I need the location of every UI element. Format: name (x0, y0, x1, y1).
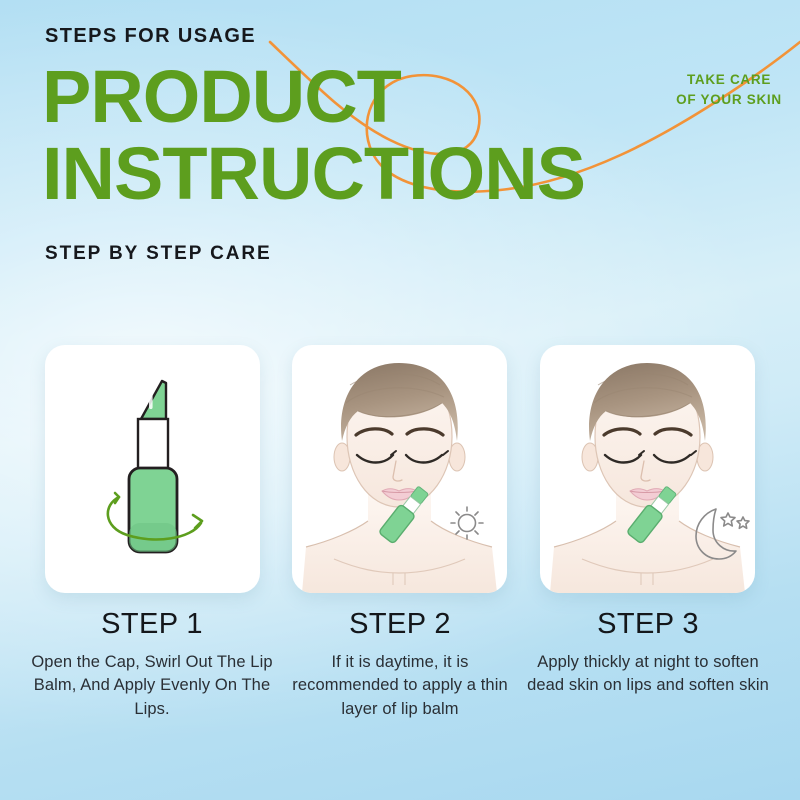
tagline-line2: OF YOUR SKIN (664, 90, 794, 110)
steps-caption-row: STEP 1 Open the Cap, Swirl Out The Lip B… (0, 608, 800, 788)
step-label: STEP 1 (28, 608, 276, 641)
woman-applying-balm-illustration (540, 345, 755, 593)
header: STEPS FOR USAGE PRODUCT INSTRUCTIONS STE… (0, 0, 800, 300)
lipstick-rotating-icon (45, 345, 260, 593)
sub-kicker-text: STEP BY STEP CARE (45, 243, 272, 265)
tagline: TAKE CARE OF YOUR SKIN (664, 70, 794, 109)
step-label: STEP 2 (276, 608, 524, 641)
step-description: Open the Cap, Swirl Out The Lip Balm, An… (28, 651, 276, 721)
step-description: If it is daytime, it is recommended to a… (276, 651, 524, 721)
step-card-1[interactable] (45, 345, 260, 593)
woman-applying-balm-illustration (292, 345, 507, 593)
step-description: Apply thickly at night to soften dead sk… (524, 651, 772, 698)
page-title-line2: INSTRUCTIONS (42, 140, 585, 208)
step-caption-1: STEP 1 Open the Cap, Swirl Out The Lip B… (28, 608, 276, 721)
step-caption-3: STEP 3 Apply thickly at night to soften … (524, 608, 772, 698)
step-card-2[interactable] (292, 345, 507, 593)
step-card-3[interactable] (540, 345, 755, 593)
steps-card-row (0, 345, 800, 593)
step-caption-2: STEP 2 If it is daytime, it is recommend… (276, 608, 524, 721)
product-instructions-poster: STEPS FOR USAGE PRODUCT INSTRUCTIONS STE… (0, 0, 800, 800)
sun-icon (451, 507, 483, 539)
step-label: STEP 3 (524, 608, 772, 641)
page-title-line1: PRODUCT (42, 63, 401, 131)
tagline-line1: TAKE CARE (664, 70, 794, 90)
